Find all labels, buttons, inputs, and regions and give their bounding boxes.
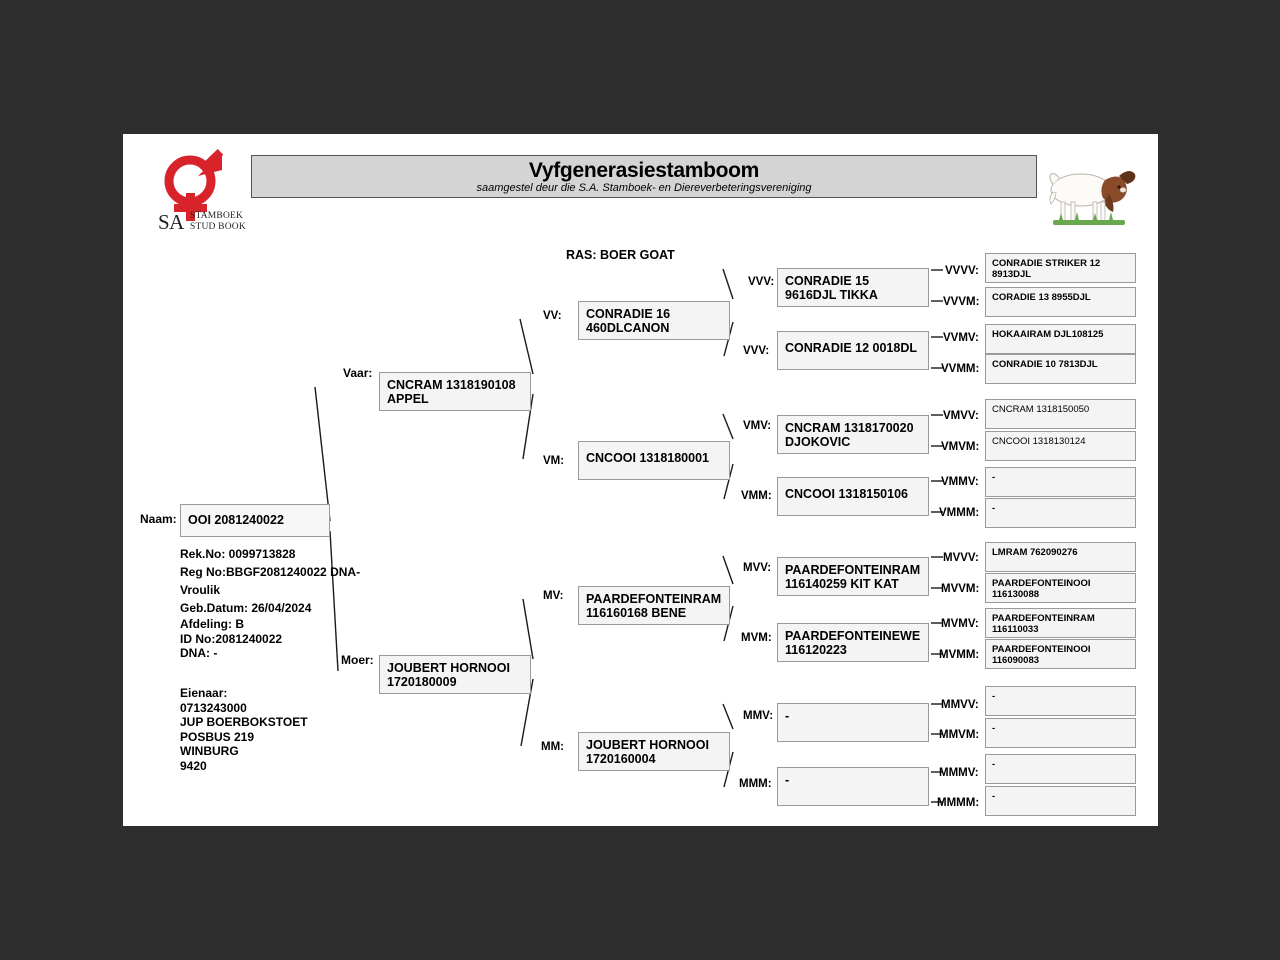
- node-vmmm: -: [985, 498, 1136, 528]
- label-vvmv: VVMV:: [943, 332, 979, 344]
- label-mvv: MVV:: [743, 562, 771, 574]
- node-vaar-line2: APPEL: [387, 392, 429, 406]
- subject-afdeling: Afdeling: B: [180, 617, 395, 632]
- node-mvmv: PAARDEFONTEINRAM 116110033: [985, 608, 1136, 638]
- page-subtitle: saamgestel deur die S.A. Stamboek- en Di…: [252, 182, 1036, 195]
- node-mvm-line1: PAARDEFONTEINEWE: [785, 629, 920, 643]
- node-moer-line2: 1720180009: [387, 675, 457, 689]
- label-mm: MM:: [541, 741, 564, 753]
- node-mv: PAARDEFONTEINRAM 116160168 BENE: [578, 586, 730, 625]
- node-mmmv-line1: -: [992, 759, 995, 770]
- label-vm: VM:: [543, 455, 564, 467]
- node-vv-line2: 460DLCANON: [586, 321, 669, 335]
- boer-goat-illustration: [1035, 150, 1145, 230]
- node-mmm-line1: -: [785, 773, 789, 787]
- node-mvmv-line1: PAARDEFONTEINRAM: [992, 613, 1095, 624]
- label-mvm: MVM:: [741, 632, 772, 644]
- node-vvv-line1: CONRADIE 15: [785, 274, 869, 288]
- node-vmv-line1: CNCRAM 1318170020: [785, 421, 914, 435]
- owner-stud: JUP BOERBOKSTOET: [180, 715, 395, 730]
- node-mvvm: PAARDEFONTEINOOI 116130088: [985, 573, 1136, 603]
- node-mvmv-line2: 116110033: [992, 624, 1039, 635]
- node-mvv-line1: PAARDEFONTEINRAM: [785, 563, 920, 577]
- label-vvv: VVV:: [748, 276, 774, 288]
- subject-rek-no: Rek.No: 0099713828: [180, 545, 395, 563]
- node-mvv-line2: 116140259 KIT KAT: [785, 577, 899, 591]
- subject-name-box: OOI 2081240022: [180, 504, 330, 537]
- owner-phone: 0713243000: [180, 701, 395, 716]
- node-mmvv: -: [985, 686, 1136, 716]
- node-mvmm-line2: 116090083: [992, 655, 1039, 666]
- label-mvvm: MVVM:: [941, 583, 979, 595]
- node-mm-line1: JOUBERT HORNOOI: [586, 738, 709, 752]
- label-vmvm: VMVM:: [941, 441, 979, 453]
- node-mmvm: -: [985, 718, 1136, 748]
- node-moer-line1: JOUBERT HORNOOI: [387, 661, 510, 675]
- owner-postcode: 9420: [180, 759, 395, 774]
- node-vmvm: CNCOOI 1318130124: [985, 431, 1136, 461]
- node-mvvv-line1: LMRAM 762090276: [992, 547, 1078, 558]
- node-vvmv: HOKAAIRAM DJL108125: [985, 324, 1136, 354]
- node-mmmm: -: [985, 786, 1136, 816]
- label-mvmm: MVMM:: [939, 649, 979, 661]
- node-vm-line1: CNCOOI 1318180001: [586, 451, 709, 465]
- logo-sa-text: SA: [158, 210, 184, 235]
- label-mv: MV:: [543, 590, 563, 602]
- node-vvmm: CONRADIE 10 7813DJL: [985, 354, 1136, 384]
- node-mvmm-line1: PAARDEFONTEINOOI: [992, 644, 1091, 655]
- label-vmmm: VMMM:: [939, 507, 979, 519]
- owner-details: Eienaar: 0713243000 JUP BOERBOKSTOET POS…: [180, 686, 395, 773]
- node-vvvv-line1: CONRADIE STRIKER 12: [992, 258, 1100, 269]
- node-vvvm-line1: CORADIE 13 8955DJL: [992, 292, 1091, 303]
- screenshot-root: SA STAMBOEK STUD BOOK Vyfgenerasiestambo…: [0, 0, 1280, 960]
- node-mvvm-line2: 116130088: [992, 589, 1039, 600]
- node-mvmm: PAARDEFONTEINOOI 116090083: [985, 639, 1136, 669]
- label-mvvv: MVVV:: [943, 552, 979, 564]
- title-banner: Vyfgenerasiestamboom saamgestel deur die…: [251, 155, 1037, 198]
- node-vaar: CNCRAM 1318190108 APPEL: [379, 372, 531, 411]
- node-mm-line2: 1720160004: [586, 752, 656, 766]
- node-vvvm: CORADIE 13 8955DJL: [985, 287, 1136, 317]
- node-vv: CONRADIE 16 460DLCANON: [578, 301, 730, 340]
- subject-reg-no: Reg No:BBGF2081240022 DNA-: [180, 563, 395, 581]
- node-vaar-line1: CNCRAM 1318190108: [387, 378, 516, 392]
- node-vmmm-line1: -: [992, 503, 995, 514]
- node-vv-line1: CONRADIE 16: [586, 307, 670, 321]
- label-vaar: Vaar:: [343, 366, 372, 380]
- label-mmm: MMM:: [739, 778, 772, 790]
- node-mm: JOUBERT HORNOOI 1720160004: [578, 732, 730, 771]
- label-mmvv: MMVV:: [941, 699, 979, 711]
- owner-town: WINBURG: [180, 744, 395, 759]
- label-vmm: VMM:: [741, 490, 772, 502]
- node-vvv: CONRADIE 15 9616DJL TIKKA: [777, 268, 929, 307]
- node-mmv: -: [777, 703, 929, 742]
- label-vv: VV:: [543, 310, 562, 322]
- node-mvm-line2: 116120223: [785, 643, 847, 657]
- node-vvv-line2: 9616DJL TIKKA: [785, 288, 878, 302]
- node-vm: CNCOOI 1318180001: [578, 441, 730, 480]
- sa-stamboek-logo: SA STAMBOEK STUD BOOK: [150, 148, 254, 236]
- subject-sex: Vroulik: [180, 581, 395, 599]
- node-mvvv: LMRAM 762090276: [985, 542, 1136, 572]
- subject-name: OOI 2081240022: [188, 513, 284, 527]
- label-vvm: VVV:: [743, 345, 769, 357]
- node-vmvv-line1: CNCRAM 1318150050: [992, 404, 1089, 415]
- logo-wordmark: STAMBOEK STUD BOOK: [190, 211, 246, 232]
- breed-label: RAS: BOER GOAT: [566, 248, 675, 262]
- naam-label: Naam:: [140, 512, 177, 526]
- page-title: Vyfgenerasiestamboom: [252, 159, 1036, 182]
- label-mmvm: MMVM:: [939, 729, 979, 741]
- node-mvv: PAARDEFONTEINRAM 116140259 KIT KAT: [777, 557, 929, 596]
- label-mvmv: MVMV:: [941, 618, 979, 630]
- label-mmv: MMV:: [743, 710, 773, 722]
- label-vmmv: VMMV:: [941, 476, 979, 488]
- label-mmmv: MMMV:: [939, 767, 979, 779]
- node-mmvm-line1: -: [992, 723, 995, 734]
- logo-line-stamboek: STAMBOEK: [190, 211, 246, 222]
- node-vmv: CNCRAM 1318170020 DJOKOVIC: [777, 415, 929, 454]
- node-vmv-line2: DJOKOVIC: [785, 435, 850, 449]
- subject-birthdate: Geb.Datum: 26/04/2024: [180, 599, 395, 617]
- label-moer: Moer:: [341, 653, 374, 667]
- node-vmvm-line1: CNCOOI 1318130124: [992, 436, 1085, 447]
- label-vvvv: VVVV:: [945, 265, 979, 277]
- label-vvvm: VVVM:: [943, 296, 979, 308]
- node-vvm: CONRADIE 12 0018DL: [777, 331, 929, 370]
- subject-id-no: ID No:2081240022: [180, 632, 395, 647]
- node-vmvv: CNCRAM 1318150050: [985, 399, 1136, 429]
- node-vmm-line1: CNCOOI 1318150106: [785, 487, 908, 501]
- logo-line-studbook: STUD BOOK: [190, 222, 246, 233]
- node-vmmv-line1: -: [992, 472, 995, 483]
- node-mmvv-line1: -: [992, 691, 995, 702]
- node-mmmv: -: [985, 754, 1136, 784]
- node-mmm: -: [777, 767, 929, 806]
- label-mmmm: MMMM:: [937, 797, 979, 809]
- node-vmm: CNCOOI 1318150106: [777, 477, 929, 516]
- owner-posbus: POSBUS 219: [180, 730, 395, 745]
- node-vvvv-line2: 8913DJL: [992, 269, 1031, 280]
- node-mmmm-line1: -: [992, 791, 995, 802]
- label-vmv: VMV:: [743, 420, 771, 432]
- node-mv-line1: PAARDEFONTEINRAM: [586, 592, 721, 606]
- node-mvm: PAARDEFONTEINEWE 116120223: [777, 623, 929, 662]
- node-mv-line2: 116160168 BENE: [586, 606, 686, 620]
- node-vvmv-line1: HOKAAIRAM DJL108125: [992, 329, 1103, 340]
- node-mmv-line1: -: [785, 709, 789, 723]
- node-mvvm-line1: PAARDEFONTEINOOI: [992, 578, 1091, 589]
- node-moer: JOUBERT HORNOOI 1720180009: [379, 655, 531, 694]
- label-vvmm: VVMM:: [941, 363, 979, 375]
- node-vmmv: -: [985, 467, 1136, 497]
- owner-label: Eienaar:: [180, 686, 395, 701]
- node-vvvv: CONRADIE STRIKER 12 8913DJL: [985, 253, 1136, 283]
- subject-details: Rek.No: 0099713828 Reg No:BBGF2081240022…: [180, 545, 395, 661]
- pedigree-document: SA STAMBOEK STUD BOOK Vyfgenerasiestambo…: [123, 134, 1158, 826]
- label-vmvv: VMVV:: [943, 410, 979, 422]
- node-vvm-line1: CONRADIE 12 0018DL: [785, 341, 917, 355]
- node-vvmm-line1: CONRADIE 10 7813DJL: [992, 359, 1098, 370]
